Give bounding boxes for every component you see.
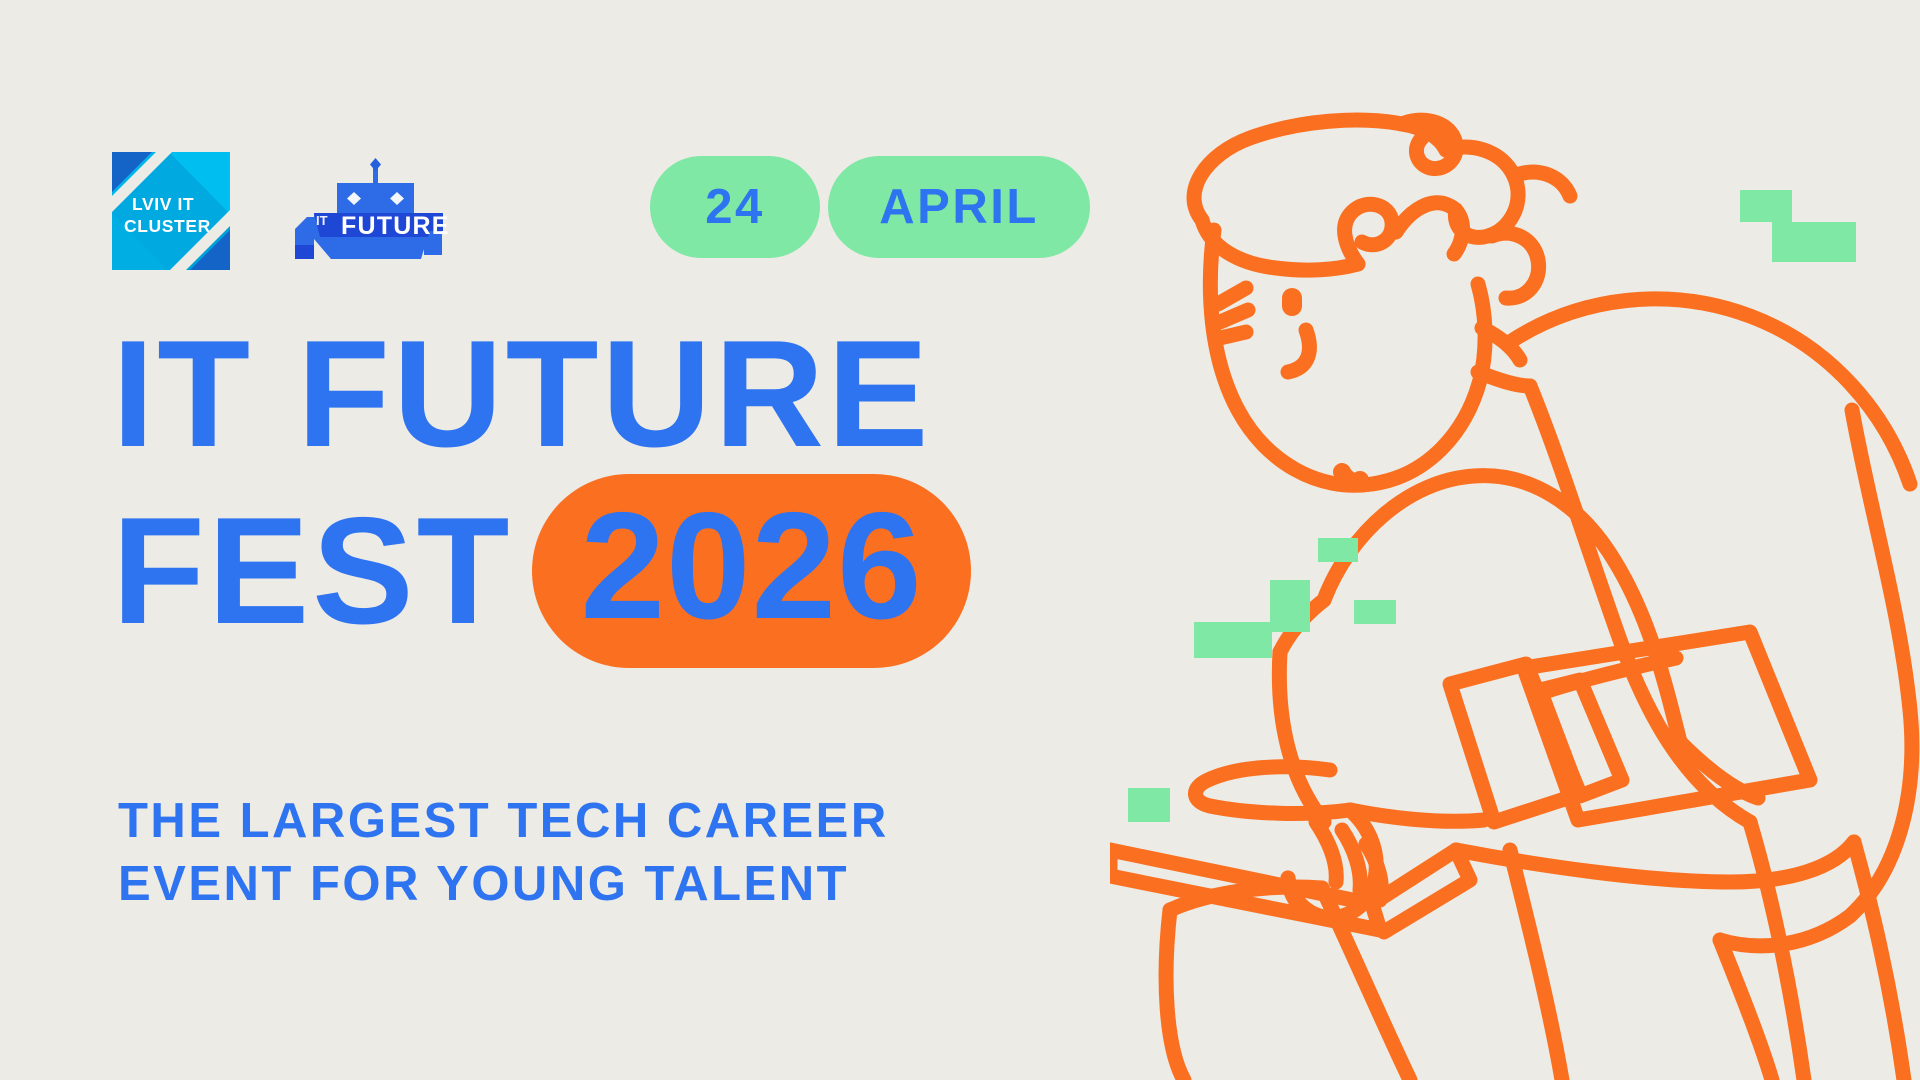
headline-year-badge: 2026: [532, 474, 970, 668]
lviv-it-cluster-logo[interactable]: LVIV IT CLUSTER: [112, 152, 230, 270]
tagline-line-1: THE LARGEST TECH CAREER: [118, 790, 889, 853]
pixel-square-4: [1270, 580, 1310, 632]
date-month-badge[interactable]: APRIL: [828, 156, 1090, 258]
headline-line-2: FEST 2026: [112, 474, 1182, 668]
pixel-square-2: [1772, 222, 1856, 262]
headline-word-fest: FEST: [112, 499, 512, 643]
pixel-square-5: [1194, 622, 1272, 658]
lviv-logo-line2: CLUSTER: [124, 216, 211, 236]
event-date: 24 APRIL: [650, 156, 1090, 258]
page-title: IT FUTURE FEST 2026: [112, 322, 1182, 668]
logo-row: LVIV IT CLUSTER: [112, 152, 462, 270]
it-future-logo-main-label: FUTURE: [341, 212, 450, 240]
tagline-line-2: EVENT FOR YOUNG TALENT: [118, 853, 889, 916]
tagline: THE LARGEST TECH CAREER EVENT FOR YOUNG …: [118, 790, 889, 915]
date-day-badge[interactable]: 24: [650, 156, 820, 258]
headline-word-future: FUTURE: [297, 322, 931, 466]
headline-word-it: IT: [112, 322, 253, 466]
pixel-square-1: [1740, 190, 1792, 222]
headline-line-1: IT FUTURE: [112, 322, 1182, 466]
it-future-logo[interactable]: IT FUTURE: [282, 155, 462, 267]
it-future-logo-small-label: IT: [316, 213, 328, 228]
lviv-logo-line1: LVIV IT: [132, 194, 194, 214]
pixel-square-3: [1318, 538, 1358, 562]
pixel-square-6: [1354, 600, 1396, 624]
pixel-square-7: [1128, 788, 1170, 822]
poster-canvas: LVIV IT CLUSTER: [0, 0, 1920, 1080]
